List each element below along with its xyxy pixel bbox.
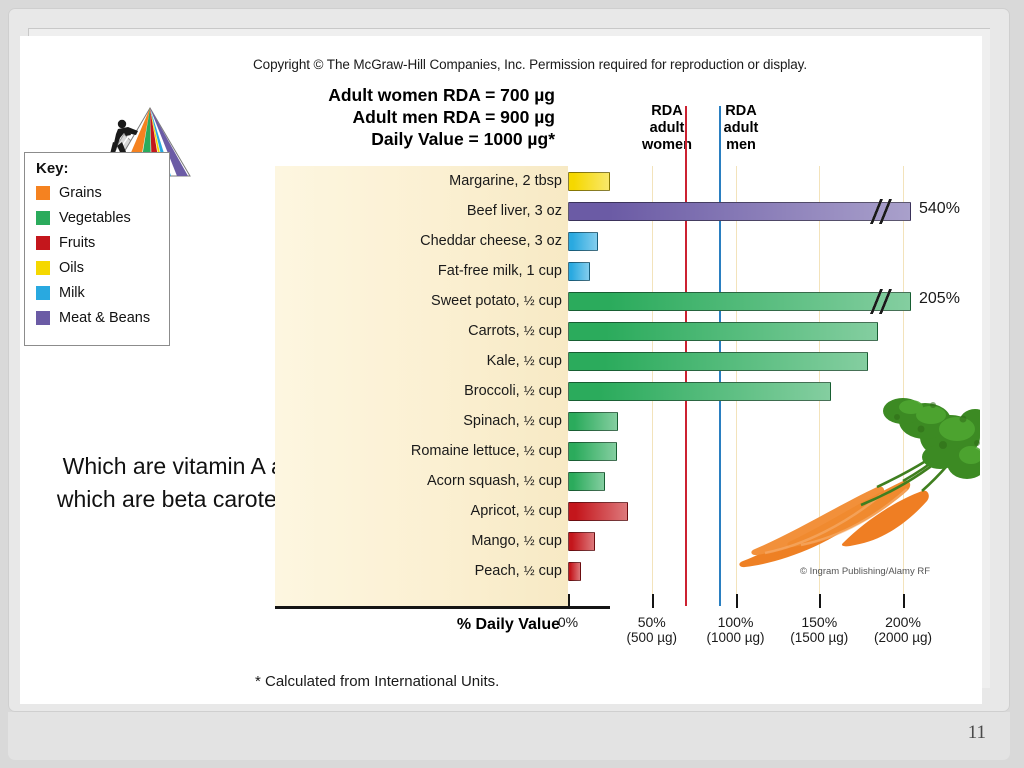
bar <box>568 172 610 191</box>
tick-label-percent: 100% <box>718 614 754 630</box>
bar-row: Fat-free milk, 1 cup <box>275 256 965 286</box>
legend-item-vegetables: Vegetables <box>36 205 169 230</box>
tick-150 <box>819 594 821 608</box>
tick-label-percent: 0% <box>558 614 578 630</box>
bar-row: Cheddar cheese, 3 oz <box>275 226 965 256</box>
legend-swatch-icon <box>36 236 50 250</box>
bar-row: Beef liver, 3 oz540% <box>275 196 965 226</box>
page-number: 11 <box>968 722 986 744</box>
rda-men-line: Adult men RDA = 900 µg <box>255 106 555 128</box>
legend-item-oils: Oils <box>36 255 169 280</box>
bar-row-label: Broccoli, ½ cup <box>302 383 562 399</box>
bar-track <box>568 256 965 286</box>
figure-copyright: Copyright © The McGraw-Hill Companies, I… <box>180 57 880 72</box>
bar-row-label: Kale, ½ cup <box>302 353 562 369</box>
tick-200 <box>903 594 905 608</box>
bar-row-label: Margarine, 2 tbsp <box>302 173 562 189</box>
rda-women-l1: RDA <box>636 103 698 120</box>
photo-credit: © Ingram Publishing/Alamy RF <box>800 566 930 577</box>
slide-stage: 11 Copyright © The McGraw-Hill Companies… <box>0 0 1024 768</box>
bar-row: Kale, ½ cup <box>275 346 965 376</box>
tick-label-micrograms: (500 µg) <box>609 630 695 645</box>
bar-value-label: 540% <box>919 200 960 218</box>
bar <box>568 502 628 521</box>
tick-label-100: 100%(1000 µg) <box>693 614 779 645</box>
legend-swatch-icon <box>36 311 50 325</box>
legend-item-meat-beans: Meat & Beans <box>36 305 169 330</box>
bar-track <box>568 226 965 256</box>
bar-row-label: Peach, ½ cup <box>302 563 562 579</box>
bar-row-label: Spinach, ½ cup <box>302 413 562 429</box>
daily-value-line: Daily Value = 1000 µg* <box>255 128 555 150</box>
bar-row-label: Beef liver, 3 oz <box>302 203 562 219</box>
bar-row-label: Mango, ½ cup <box>302 533 562 549</box>
bar <box>568 532 595 551</box>
tick-label-percent: 200% <box>885 614 921 630</box>
tick-50 <box>652 594 654 608</box>
bar-track: 540% <box>568 196 965 226</box>
bar-row-label: Sweet potato, ½ cup <box>302 293 562 309</box>
tick-label-micrograms: (1000 µg) <box>693 630 779 645</box>
bar-row-label: Carrots, ½ cup <box>302 323 562 339</box>
tick-label-micrograms: (1500 µg) <box>776 630 862 645</box>
bar-row: Carrots, ½ cup <box>275 316 965 346</box>
tick-0 <box>568 594 570 608</box>
legend-swatch-icon <box>36 261 50 275</box>
legend-title: Key: <box>36 160 169 177</box>
legend-swatch-icon <box>36 211 50 225</box>
bar <box>568 232 598 251</box>
bar-row-label: Acorn squash, ½ cup <box>302 473 562 489</box>
bar <box>568 442 617 461</box>
bar-row-label: Fat-free milk, 1 cup <box>302 263 562 279</box>
bar <box>568 472 605 491</box>
bar-row-label: Romaine lettuce, ½ cup <box>302 443 562 459</box>
x-axis-line <box>275 606 610 609</box>
tick-label-percent: 50% <box>638 614 666 630</box>
legend-item-label: Oils <box>59 260 84 276</box>
rda-women-l2: adult <box>636 120 698 137</box>
legend-item-label: Fruits <box>59 235 95 251</box>
bar <box>568 292 911 311</box>
rda-column-headers: RDA adult women RDA adult men <box>636 103 772 154</box>
bar <box>568 202 911 221</box>
legend-item-milk: Milk <box>36 280 169 305</box>
bar <box>568 322 878 341</box>
tick-label-200: 200%(2000 µg) <box>860 614 946 645</box>
slide-footer-band <box>8 712 1010 760</box>
tick-label-0: 0% <box>525 614 611 630</box>
bar-row: Margarine, 2 tbsp <box>275 166 965 196</box>
rda-women-line: Adult women RDA = 700 µg <box>255 84 555 106</box>
rda-women-l3: women <box>636 137 698 154</box>
legend-item-label: Grains <box>59 185 102 201</box>
tick-label-150: 150%(1500 µg) <box>776 614 862 645</box>
legend-item-label: Meat & Beans <box>59 310 150 326</box>
tick-label-micrograms: (2000 µg) <box>860 630 946 645</box>
tick-label-50: 50%(500 µg) <box>609 614 695 645</box>
bar-track: 205% <box>568 286 965 316</box>
legend-item-fruits: Fruits <box>36 230 169 255</box>
legend-item-grains: Grains <box>36 180 169 205</box>
bar-row-label: Apricot, ½ cup <box>302 503 562 519</box>
legend-key: Key: GrainsVegetablesFruitsOilsMilkMeat … <box>24 152 170 346</box>
tick-100 <box>736 594 738 608</box>
chart-footnote: * Calculated from International Units. <box>255 673 499 690</box>
legend-item-label: Vegetables <box>59 210 131 226</box>
bar-track <box>568 316 965 346</box>
bar-value-label: 205% <box>919 290 960 308</box>
rda-adult-women-header: RDA adult women <box>636 103 698 154</box>
bar-row-label: Cheddar cheese, 3 oz <box>302 233 562 249</box>
legend-swatch-icon <box>36 186 50 200</box>
bar-track <box>568 346 965 376</box>
carrots-photo <box>735 395 980 585</box>
legend-item-label: Milk <box>59 285 85 301</box>
bar-row: Sweet potato, ½ cup205% <box>275 286 965 316</box>
legend-swatch-icon <box>36 286 50 300</box>
bar <box>568 352 868 371</box>
bar-track <box>568 166 965 196</box>
rda-summary: Adult women RDA = 700 µg Adult men RDA =… <box>255 84 555 150</box>
bar <box>568 562 581 581</box>
bar <box>568 262 590 281</box>
tick-label-percent: 150% <box>801 614 837 630</box>
bar <box>568 412 618 431</box>
